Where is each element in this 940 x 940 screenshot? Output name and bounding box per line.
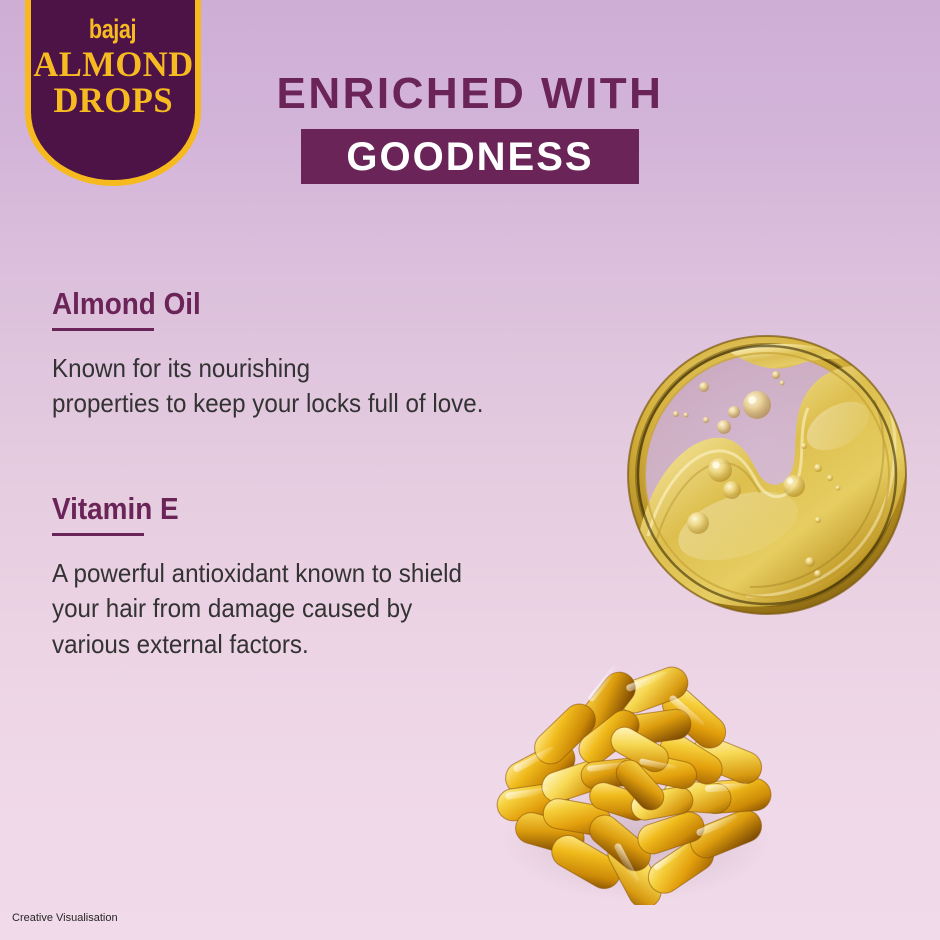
brand-name-drops: DROPS [53,83,173,118]
headline-banner: GOODNESS [301,129,639,184]
section-title: Vitamin E [52,493,529,526]
section-body: Known for its nourishing properties to k… [52,351,545,423]
brand-name-almond: ALMOND [33,47,193,82]
oil-dish-image [622,330,912,620]
footnote-disclaimer: Creative Visualisation [12,912,118,924]
poster-canvas: { "brand": { "badge": { "bajaj": "bajaj"… [0,0,940,940]
headline-primary: ENRICHED WITH [270,72,670,116]
headline-secondary: GOODNESS [346,137,593,177]
section-title: Almond Oil [52,288,529,321]
header: ENRICHED WITH GOODNESS [270,72,670,184]
brand-name-bajaj: bajaj [89,16,136,43]
brand-badge: bajaj ALMOND DROPS [25,0,201,186]
section-vitamin-e: Vitamin E A powerful antioxidant known t… [52,493,582,663]
title-underline [52,328,154,331]
title-underline [52,533,144,536]
section-body: A powerful antioxidant known to shield y… [52,556,545,664]
vitamin-e-capsules-image [485,640,785,905]
section-almond-oil: Almond Oil Known for its nourishing prop… [52,288,582,422]
